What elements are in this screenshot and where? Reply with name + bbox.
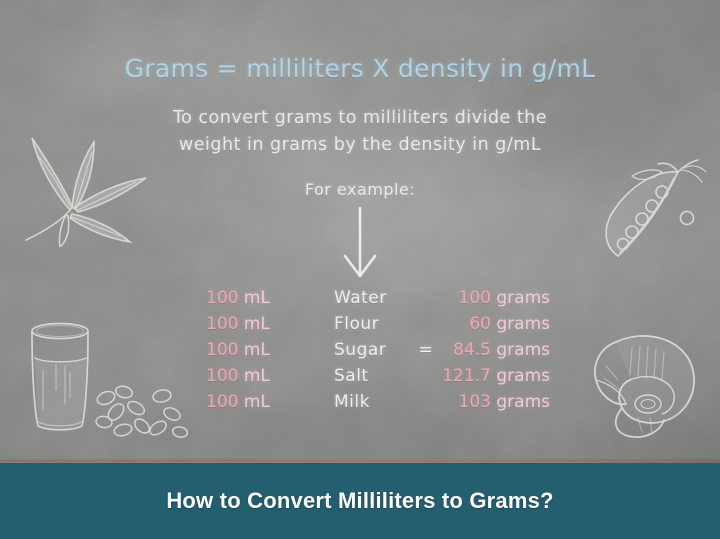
page-title: Grams = milliliters X density in g/mL [0,54,720,83]
slide-container: Grams = milliliters X density in g/mL To… [0,0,720,539]
cell-mass: 60 grams [420,314,550,334]
down-arrow-icon [336,206,384,280]
volume-unit: mL [244,314,270,334]
bottom-banner: How to Convert Milliliters to Grams? [0,463,720,539]
volume-number: 100 [206,366,238,386]
mass-number: 121.7 [442,366,491,386]
mass-unit: grams [496,366,550,386]
conversion-table: 100 mL Water 100 grams 100 mL Flour 60 g… [0,288,720,418]
example-label: For example: [0,180,720,199]
volume-unit: mL [244,366,270,386]
volume-unit: mL [244,392,270,412]
banner-title: How to Convert Milliliters to Grams? [166,488,553,514]
cell-mass: 121.7 grams [420,366,550,386]
cell-mass: 103 grams [420,392,550,412]
cell-volume: 100 mL [206,288,336,308]
cell-volume: 100 mL [206,314,336,334]
cell-mass: 100 grams [420,288,550,308]
table-row: 100 mL Salt 121.7 grams [0,366,720,392]
cell-volume: 100 mL [206,340,336,360]
volume-unit: mL [244,340,270,360]
volume-number: 100 [206,340,238,360]
mass-number: 60 [469,314,491,334]
mass-unit: grams [496,392,550,412]
table-row: 100 mL Flour 60 grams [0,314,720,340]
mass-unit: grams [496,314,550,334]
table-row: 100 mL Water 100 grams [0,288,720,314]
table-row: 100 mL Sugar = 84.5 grams [0,340,720,366]
mass-number: 84.5 [453,340,491,360]
volume-number: 100 [206,288,238,308]
volume-number: 100 [206,392,238,412]
mass-unit: grams [496,288,550,308]
subtitle-line-2: weight in grams by the density in g/mL [0,135,720,155]
cell-volume: 100 mL [206,366,336,386]
subtitle-line-1: To convert grams to milliliters divide t… [0,108,720,128]
cell-volume: 100 mL [206,392,336,412]
volume-number: 100 [206,314,238,334]
mass-number: 103 [459,392,491,412]
cell-mass: 84.5 grams [420,340,550,360]
table-row: 100 mL Milk 103 grams [0,392,720,418]
mass-unit: grams [496,340,550,360]
mass-number: 100 [459,288,491,308]
volume-unit: mL [244,288,270,308]
